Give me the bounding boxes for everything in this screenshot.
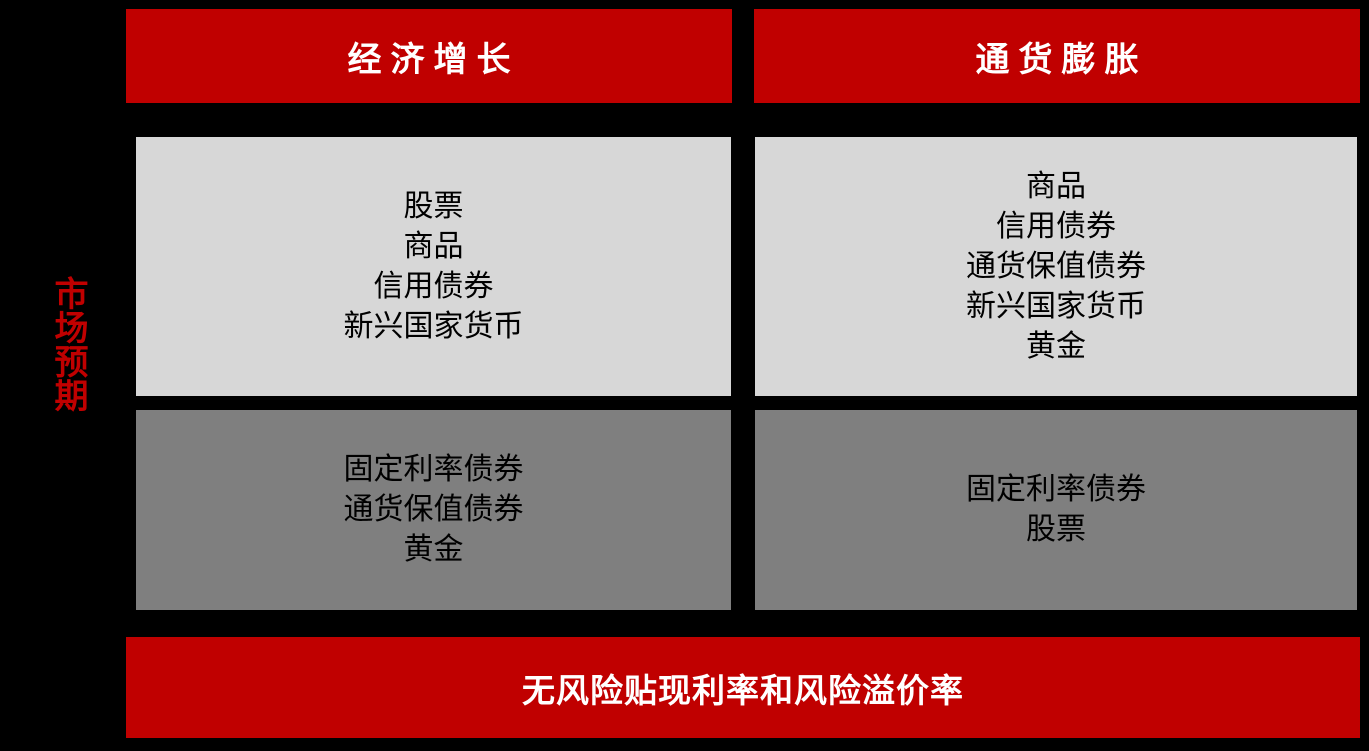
cell-item: 商品	[404, 227, 464, 267]
cell-item: 新兴国家货币	[966, 287, 1146, 327]
cell-growth-below-expectation: 固定利率债券 通货保值债券 黄金	[136, 410, 731, 610]
cell-item: 通货保值债券	[344, 490, 524, 530]
cell-item: 黄金	[404, 530, 464, 570]
cell-growth-above-expectation: 股票 商品 信用债券 新兴国家货币	[136, 137, 731, 396]
cell-item: 新兴国家货币	[344, 307, 524, 347]
cell-item: 黄金	[1026, 327, 1086, 367]
cell-inflation-above-expectation: 商品 信用债券 通货保值债券 新兴国家货币 黄金	[755, 137, 1357, 396]
matrix-diagram: 市场预期 经济增长 通货膨胀 股票 商品 信用债券 新兴国家货币 商品 信用债券…	[0, 0, 1369, 751]
column-header-inflation: 通货膨胀	[754, 9, 1360, 103]
cell-item: 商品	[1026, 167, 1086, 207]
row-axis-label: 市场预期	[46, 256, 90, 432]
column-header-economic-growth: 经济增长	[126, 9, 732, 103]
cell-item: 通货保值债券	[966, 247, 1146, 287]
cell-item: 信用债券	[996, 207, 1116, 247]
cell-item: 固定利率债券	[966, 470, 1146, 510]
cell-inflation-below-expectation: 固定利率债券 股票	[755, 410, 1357, 610]
footer-banner: 无风险贴现利率和风险溢价率	[126, 637, 1360, 738]
cell-item: 固定利率债券	[344, 450, 524, 490]
cell-item: 股票	[1026, 510, 1086, 550]
cell-item: 股票	[404, 187, 464, 227]
cell-item: 信用债券	[374, 267, 494, 307]
